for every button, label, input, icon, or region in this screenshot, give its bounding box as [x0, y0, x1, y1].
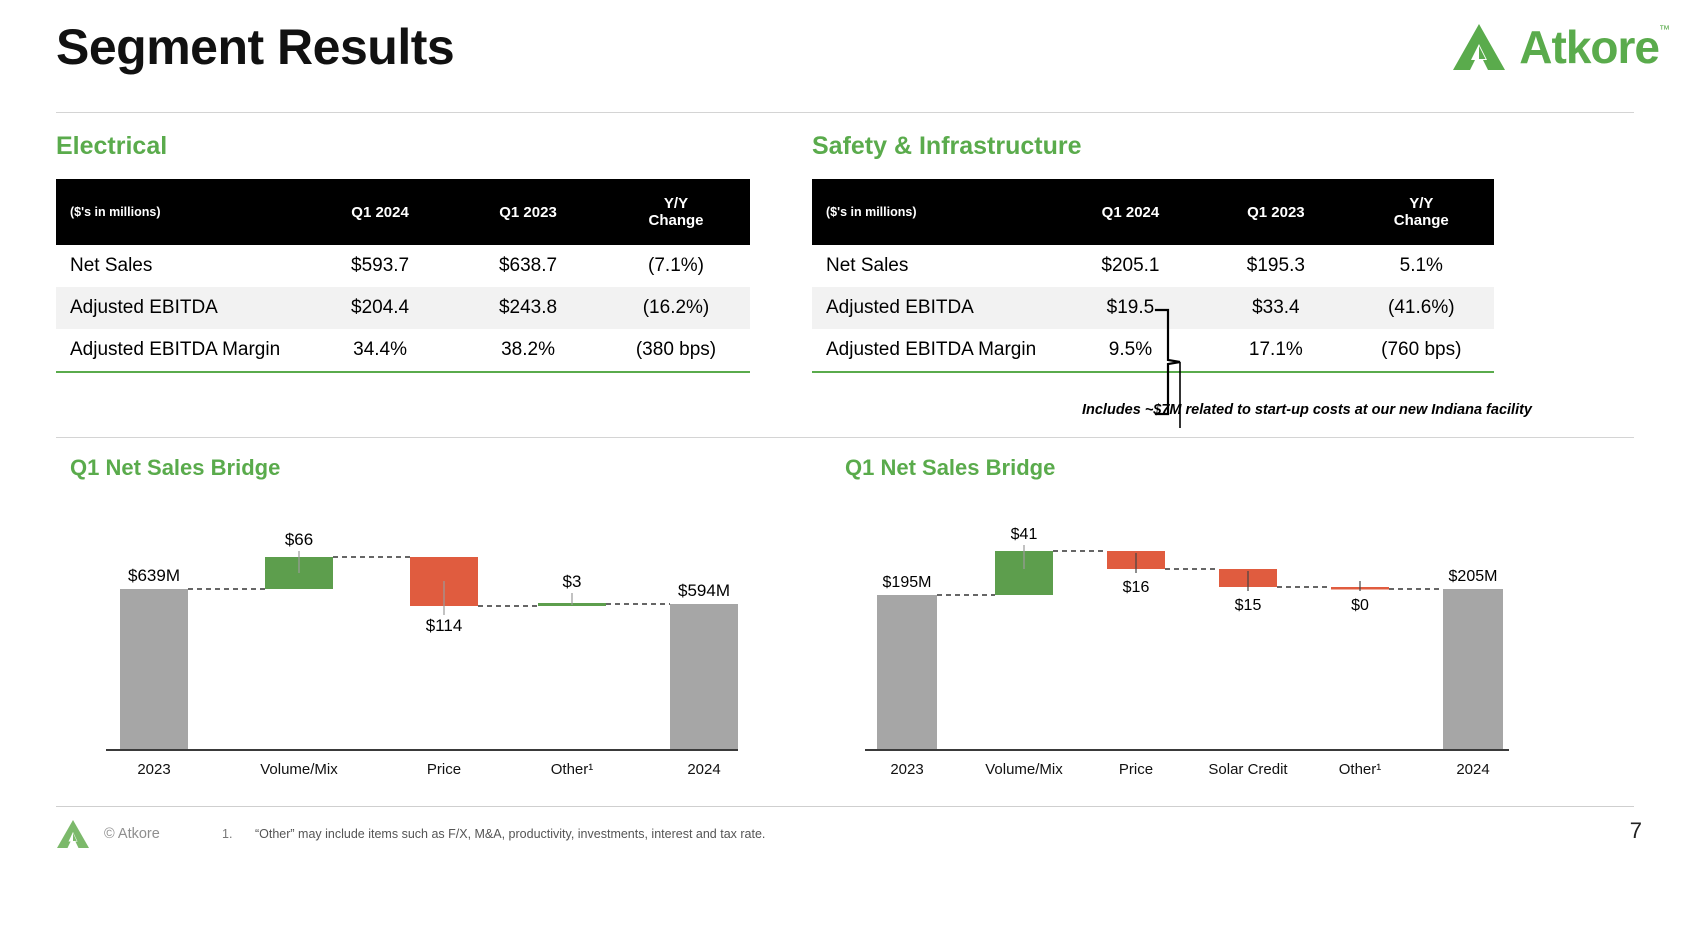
bar-label-other: $3	[563, 572, 582, 591]
table-header-yy-change: Y/Y Change	[1349, 179, 1494, 245]
row-label: Adjusted EBITDA	[56, 287, 306, 329]
safety-segment-note: Includes ~$7M related to start-up costs …	[972, 402, 1532, 418]
axis-label-2024: 2024	[1456, 761, 1489, 778]
cell-yy-change: (760 bps)	[1349, 329, 1494, 372]
cell-q1-2023: 38.2%	[454, 329, 602, 372]
row-label: Net Sales	[56, 245, 306, 287]
bar-label-other: $0	[1351, 597, 1369, 614]
bar-2024	[670, 604, 738, 749]
divider-middle	[56, 437, 1634, 438]
cell-q1-2023: $243.8	[454, 287, 602, 329]
cell-q1-2024: $205.1	[1058, 245, 1203, 287]
table-row: Net Sales $205.1 $195.3 5.1%	[812, 245, 1494, 287]
cell-q1-2023: 17.1%	[1203, 329, 1348, 372]
bar-label-2023: $639M	[128, 566, 180, 585]
cell-q1-2023: $638.7	[454, 245, 602, 287]
cell-yy-change: (380 bps)	[602, 329, 750, 372]
trademark-icon: ™	[1659, 24, 1670, 36]
table-row: Adjusted EBITDA Margin 9.5% 17.1% (760 b…	[812, 329, 1494, 372]
atkore-triangle-icon	[1451, 22, 1507, 72]
cell-q1-2024: $593.7	[306, 245, 454, 287]
chart-title: Q1 Net Sales Bridge	[70, 455, 770, 481]
table-header-row: ($'s in millions) Q1 2024 Q1 2023 Y/Y Ch…	[812, 179, 1494, 245]
divider-top	[56, 112, 1634, 113]
table-header-q1-2024: Q1 2024	[1058, 179, 1203, 245]
axis-label-other: Other¹	[1339, 761, 1382, 778]
cell-q1-2024: $204.4	[306, 287, 454, 329]
segment-title-safety-infrastructure: Safety & Infrastructure	[812, 132, 1558, 161]
footer-copyright: © Atkore	[104, 826, 160, 842]
chart-safety-net-sales-bridge: Q1 Net Sales Bridge $195M $41 $16 $	[845, 455, 1545, 779]
bar-label-2024: $205M	[1449, 568, 1498, 585]
table-row: Adjusted EBITDA $19.5 $33.4 (41.6%)	[812, 287, 1494, 329]
cell-q1-2024: 34.4%	[306, 329, 454, 372]
segment-panel-safety-infrastructure: Safety & Infrastructure ($'s in millions…	[812, 132, 1558, 373]
segment-table-electrical: ($'s in millions) Q1 2024 Q1 2023 Y/Y Ch…	[56, 179, 750, 373]
axis-label-other: Other¹	[551, 761, 594, 778]
axis-label-2024: 2024	[687, 761, 720, 778]
chart-title: Q1 Net Sales Bridge	[845, 455, 1545, 481]
segment-panel-electrical: Electrical ($'s in millions) Q1 2024 Q1 …	[56, 132, 802, 373]
table-header-q1-2023: Q1 2023	[1203, 179, 1348, 245]
bar-label-2024: $594M	[678, 581, 730, 600]
cell-q1-2023: $33.4	[1203, 287, 1348, 329]
page-title: Segment Results	[56, 18, 454, 76]
table-header-row: ($'s in millions) Q1 2024 Q1 2023 Y/Y Ch…	[56, 179, 750, 245]
cell-q1-2024: 9.5%	[1058, 329, 1203, 372]
axis-label-2023: 2023	[137, 761, 170, 778]
atkore-logo: Atkore ™	[1451, 22, 1670, 72]
slide: Segment Results Atkore ™ Electrical ($'s…	[0, 0, 1690, 946]
table-row: Net Sales $593.7 $638.7 (7.1%)	[56, 245, 750, 287]
footnote-text: “Other” may include items such as F/X, M…	[255, 827, 765, 841]
table-header-units: ($'s in millions)	[56, 179, 306, 245]
waterfall-safety-svg: $195M $41 $16 $15 $0 $205M 2023 Volume/M…	[845, 489, 1525, 779]
cell-q1-2024: $19.5	[1058, 287, 1203, 329]
yy-line-1: Y/Y	[1409, 195, 1433, 212]
table-header-units: ($'s in millions)	[812, 179, 1058, 245]
bar-label-2023: $195M	[883, 574, 932, 591]
table-row: Adjusted EBITDA $204.4 $243.8 (16.2%)	[56, 287, 750, 329]
divider-bottom	[56, 806, 1634, 807]
cell-yy-change: (16.2%)	[602, 287, 750, 329]
logo-wordmark: Atkore	[1519, 24, 1659, 70]
cell-yy-change: (7.1%)	[602, 245, 750, 287]
table-header-q1-2023: Q1 2023	[454, 179, 602, 245]
axis-label-2023: 2023	[890, 761, 923, 778]
bar-2023	[120, 589, 188, 749]
yy-line-2: Change	[649, 212, 704, 229]
segment-title-electrical: Electrical	[56, 132, 802, 161]
bar-2023	[877, 595, 937, 750]
yy-line-2: Change	[1394, 212, 1449, 229]
axis-label-price: Price	[1119, 761, 1153, 778]
footer-atkore-triangle-icon	[56, 818, 90, 850]
table-header-q1-2024: Q1 2024	[306, 179, 454, 245]
bar-label-solar-credit: $15	[1235, 597, 1262, 614]
bar-label-volume-mix: $41	[1011, 526, 1038, 543]
row-label: Adjusted EBITDA Margin	[56, 329, 306, 372]
bar-2024	[1443, 589, 1503, 750]
axis-label-volume-mix: Volume/Mix	[985, 761, 1063, 778]
bar-label-price: $114	[426, 616, 463, 635]
yy-line-1: Y/Y	[664, 195, 688, 212]
chart-electrical-net-sales-bridge: Q1 Net Sales Bridge $639M $66 $114 $3 $5…	[70, 455, 770, 779]
footnote-number: 1.	[222, 827, 232, 841]
cell-yy-change: (41.6%)	[1349, 287, 1494, 329]
axis-label-price: Price	[427, 761, 461, 778]
table-header-yy-change: Y/Y Change	[602, 179, 750, 245]
row-label: Adjusted EBITDA Margin	[812, 329, 1058, 372]
segment-table-safety-infrastructure: ($'s in millions) Q1 2024 Q1 2023 Y/Y Ch…	[812, 179, 1494, 373]
page-number: 7	[1630, 818, 1642, 844]
row-label: Adjusted EBITDA	[812, 287, 1058, 329]
bar-label-price: $16	[1123, 579, 1150, 596]
cell-yy-change: 5.1%	[1349, 245, 1494, 287]
axis-label-volume-mix: Volume/Mix	[260, 761, 338, 778]
axis-label-solar-credit: Solar Credit	[1208, 761, 1288, 778]
table-row: Adjusted EBITDA Margin 34.4% 38.2% (380 …	[56, 329, 750, 372]
row-label: Net Sales	[812, 245, 1058, 287]
waterfall-electrical-svg: $639M $66 $114 $3 $594M 2023 Volume/Mix …	[70, 489, 750, 779]
cell-q1-2023: $195.3	[1203, 245, 1348, 287]
bar-label-volume-mix: $66	[285, 530, 313, 549]
